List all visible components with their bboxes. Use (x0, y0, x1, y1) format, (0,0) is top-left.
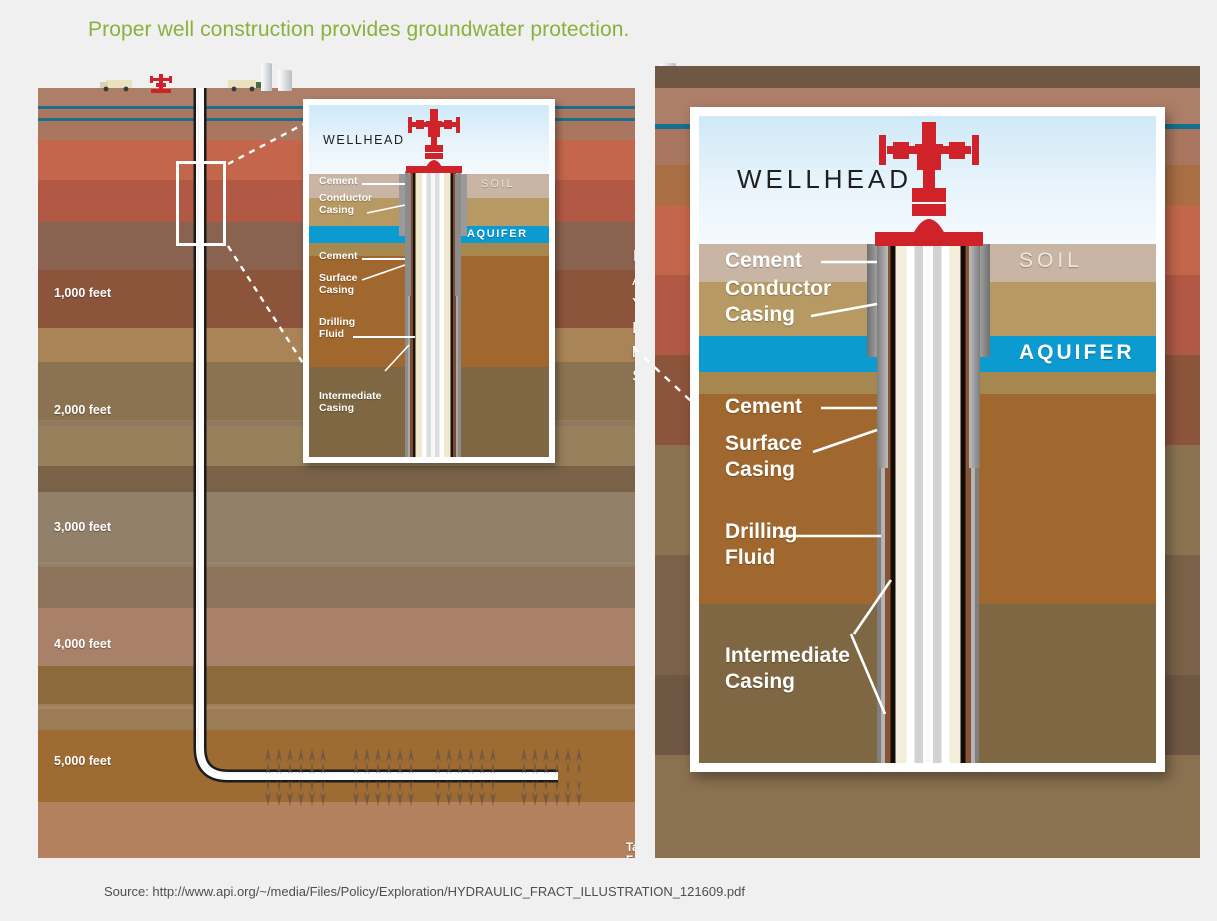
inset-drilling-label-2: Fluid (319, 329, 344, 341)
wellbore-detail-inset: WELLHEAD SOIL AQUIFER Cement Conductor C… (303, 99, 555, 463)
inset-cement-label-2: Cement (319, 251, 358, 263)
detail-soil-label: SOIL (1019, 249, 1083, 273)
target-formation-label: Target Formation (626, 842, 635, 858)
storage-tank-2 (278, 70, 292, 91)
storage-tank-1 (261, 63, 272, 91)
truck-icon-1 (100, 80, 132, 91)
detail-intermediate-label-1: Intermediate (725, 644, 850, 668)
detail-intermediate-label-2: Casing (725, 670, 795, 694)
target-formation-text: Target Formation (626, 842, 635, 858)
detail-cement-label-2: Cement (725, 395, 802, 419)
detail-conductor-label-2: Casing (725, 303, 795, 327)
inset-drilling-label-1: Drilling (319, 317, 355, 329)
surface-equipment (100, 72, 330, 94)
detail-cement-label-1: Cement (725, 249, 802, 273)
inset-intermediate-label-2: Casing (319, 403, 354, 415)
detail-wellhead-label: WELLHEAD (737, 165, 912, 194)
detail-drilling-label-2: Fluid (725, 546, 775, 570)
inset-drilling-leader (353, 336, 415, 338)
inset-intermediate-label-1: Intermediate (319, 391, 381, 403)
inset-surface-label-2: Casing (319, 285, 354, 297)
detail-callout-box (176, 161, 226, 246)
truck-icon-2 (228, 80, 264, 91)
detail-surface-label-2: Casing (725, 458, 795, 482)
detail-conductor-label-1: Conductor (725, 277, 831, 301)
inset-surface-label-1: Surface (319, 273, 358, 285)
detail-drilling-label-1: Drilling (725, 520, 797, 544)
fracture-arrows (38, 718, 635, 858)
impervious-rock-layers-label: IMPERVIOUS ROCK LAYERS (634, 248, 635, 728)
right-bg-surface (655, 66, 1200, 88)
page-title: Proper well construction provides ground… (88, 18, 629, 42)
detail-surface-label-1: Surface (725, 432, 802, 456)
wellbore-detail-panel: WELLHEAD SOIL AQUIFER Cement Conductor C… (690, 107, 1165, 772)
wellhead-icon-small (148, 74, 174, 96)
source-citation: Source: http://www.api.org/~/media/Files… (104, 884, 745, 899)
inset-cement-leader-2 (362, 258, 405, 260)
detail-aquifer-label: AQUIFER (1019, 341, 1135, 365)
